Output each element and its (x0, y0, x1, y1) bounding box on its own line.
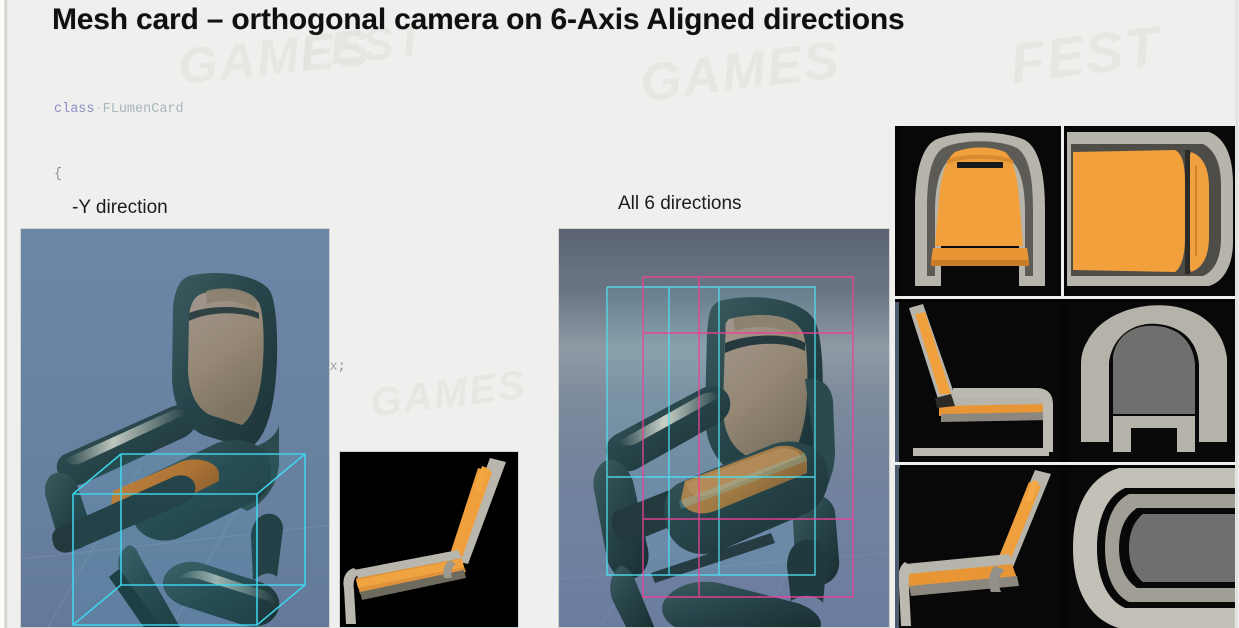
viewport-label-right: All 6 directions (618, 193, 742, 215)
page-title: Mesh card – orthogonal camera on 6-Axis … (52, 3, 904, 37)
card-render-side (340, 452, 518, 627)
grid-separator (1061, 126, 1064, 296)
card-back[interactable] (1067, 302, 1239, 462)
card-grid-all-directions (895, 126, 1239, 628)
card-front[interactable] (899, 126, 1061, 296)
watermark-text: GAMES (637, 30, 844, 114)
slide-root: GAMES FEST GAMES FEST GAMES Mesh card – … (0, 0, 1239, 628)
window-edge-left (0, 0, 9, 628)
card-side-right[interactable] (899, 468, 1061, 628)
watermark-text: FEST (1007, 13, 1165, 96)
card-thumbnail-minus-y[interactable] (339, 451, 519, 628)
grid-separator (895, 462, 1239, 465)
viewport-label-left: -Y direction (72, 197, 168, 219)
viewport-all-6[interactable] (558, 228, 890, 628)
card-render-top (1067, 126, 1239, 296)
card-render-side-right (899, 468, 1061, 628)
card-render-bottom (1067, 468, 1239, 628)
card-render-back (1067, 302, 1239, 462)
code-line: class·FLumenCard (54, 99, 346, 121)
window-edge-right (1235, 0, 1239, 628)
grid-separator (895, 296, 1239, 299)
chair-render-right (559, 229, 890, 628)
card-render-side-left (899, 302, 1061, 462)
card-bottom[interactable] (1067, 468, 1239, 628)
card-render-front (899, 126, 1061, 296)
code-line: { (54, 164, 346, 186)
card-top[interactable] (1067, 126, 1239, 296)
watermark-text: GAMES (368, 363, 529, 427)
card-side-left[interactable] (899, 302, 1061, 462)
chair-render-left (21, 229, 330, 628)
viewport-minus-y[interactable] (20, 228, 330, 628)
